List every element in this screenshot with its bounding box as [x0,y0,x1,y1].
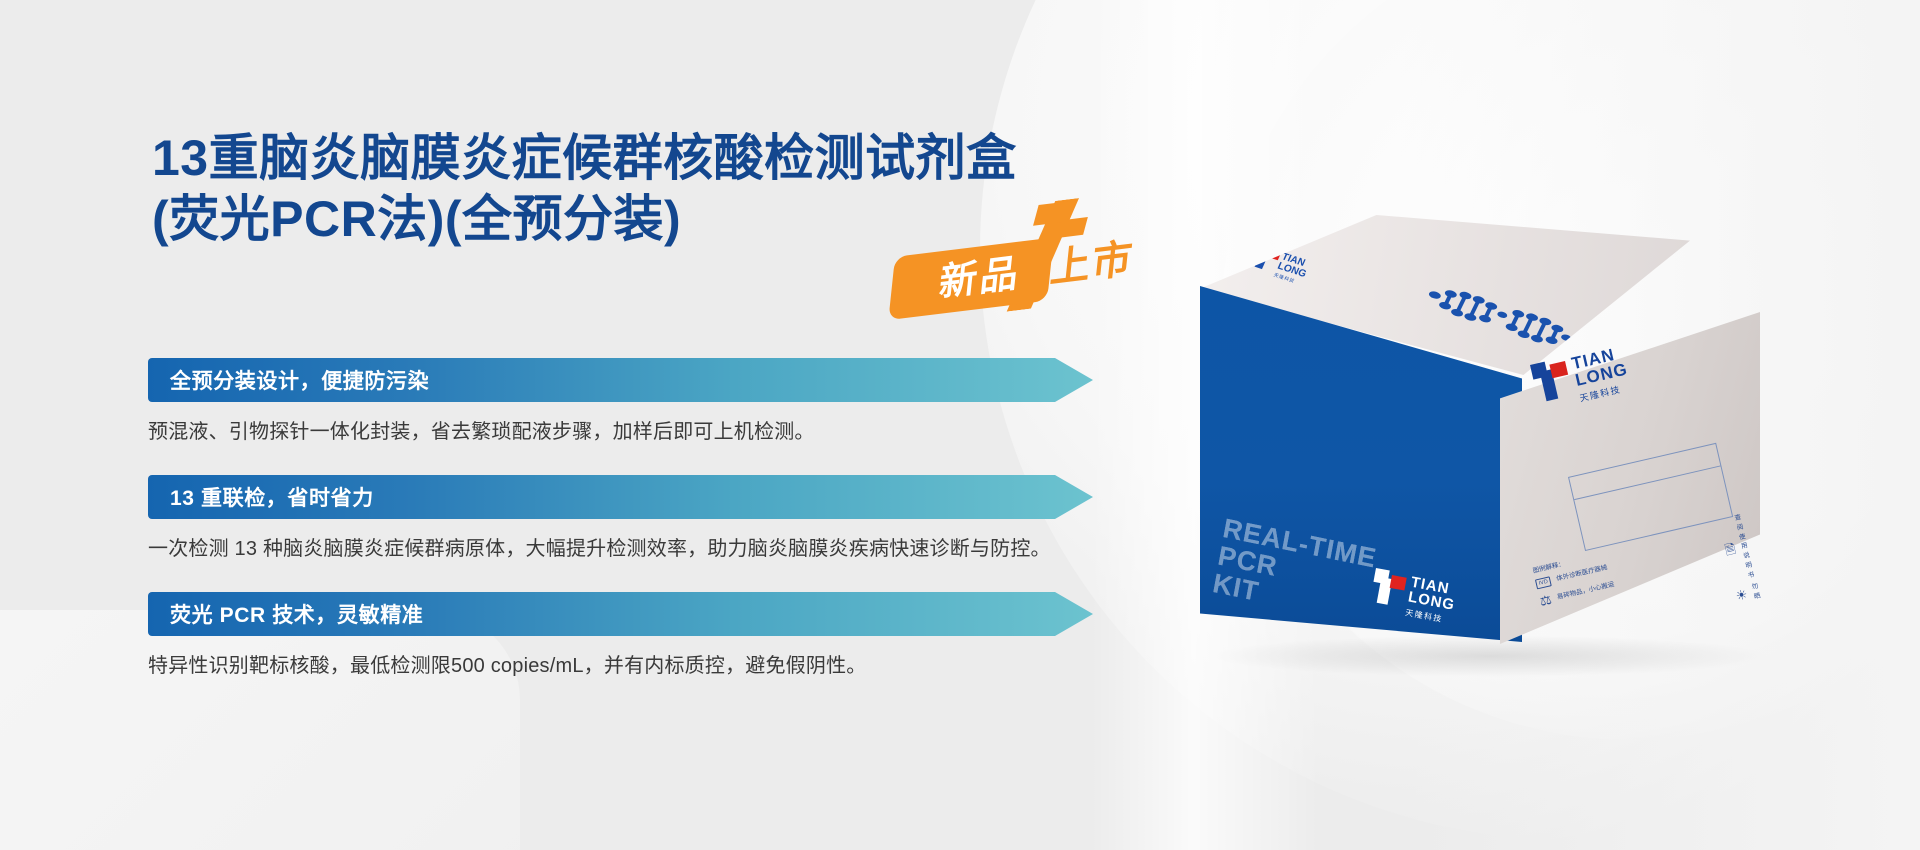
feature-banner-3: 荧光 PCR 技术，灵敏精准 [148,592,1093,636]
product-shadow [1210,635,1770,677]
panel-divider [1574,465,1720,500]
feature-description-2: 一次检测 13 种脑炎脑膜炎症候群病原体，大幅提升检测效率，助力脑炎脑膜炎疾病快… [148,533,1073,566]
no-sun-symbol-icon: ☀ [1734,585,1750,607]
feature-item: 全预分装设计，便捷防污染 预混液、引物探针一体化封装，省去繁琐配液步骤，加样后即… [148,358,1108,449]
box-top-logo: TIAN LONG 天隆科技 [1248,243,1312,286]
legend-text-nosun: 勿晒 [1751,582,1762,602]
dna-helix-pattern-icon [1423,275,1581,352]
feature-label-2: 13 重联检，省时省力 [148,482,374,512]
product-kit-title: REAL-TIME PCR KIT [1211,514,1379,628]
tianlong-logo-mark-icon [1370,568,1406,607]
feature-description-3: 特异性识别靶标核酸，最低检测限500 copies/mL，并有内标质控，避免假阴… [148,650,1073,683]
badge-right-label: 上市 [1047,227,1137,301]
feature-label-3: 荧光 PCR 技术，灵敏精准 [148,599,423,629]
legend-text-fragile: 易碎物品，小心搬运 [1556,580,1615,603]
feature-banner-1: 全预分装设计，便捷防污染 [148,358,1093,402]
feature-item: 13 重联检，省时省力 一次检测 13 种脑炎脑膜炎症候群病原体，大幅提升检测效… [148,475,1108,566]
feature-banner-2: 13 重联检，省时省力 [148,475,1093,519]
feature-description-1: 预混液、引物探针一体化封装，省去繁琐配液步骤，加样后即可上机检测。 [148,416,1073,449]
ivd-symbol-icon: IVD [1535,576,1552,589]
feature-item: 荧光 PCR 技术，灵敏精准 特异性识别靶标核酸，最低检测限500 copies… [148,592,1108,683]
headline-line-1: 13重脑炎脑膜炎症候群核酸检测试剂盒 [152,130,1017,186]
feature-label-1: 全预分装设计，便捷防污染 [148,365,429,395]
box-front-logo: TIAN LONG 天隆科技 [1368,568,1459,626]
product-box-image: TIAN LONG 天隆科技 [1200,215,1840,715]
feature-list: 全预分装设计，便捷防污染 预混液、引物探针一体化封装，省去繁琐配液步骤，加样后即… [148,358,1108,709]
